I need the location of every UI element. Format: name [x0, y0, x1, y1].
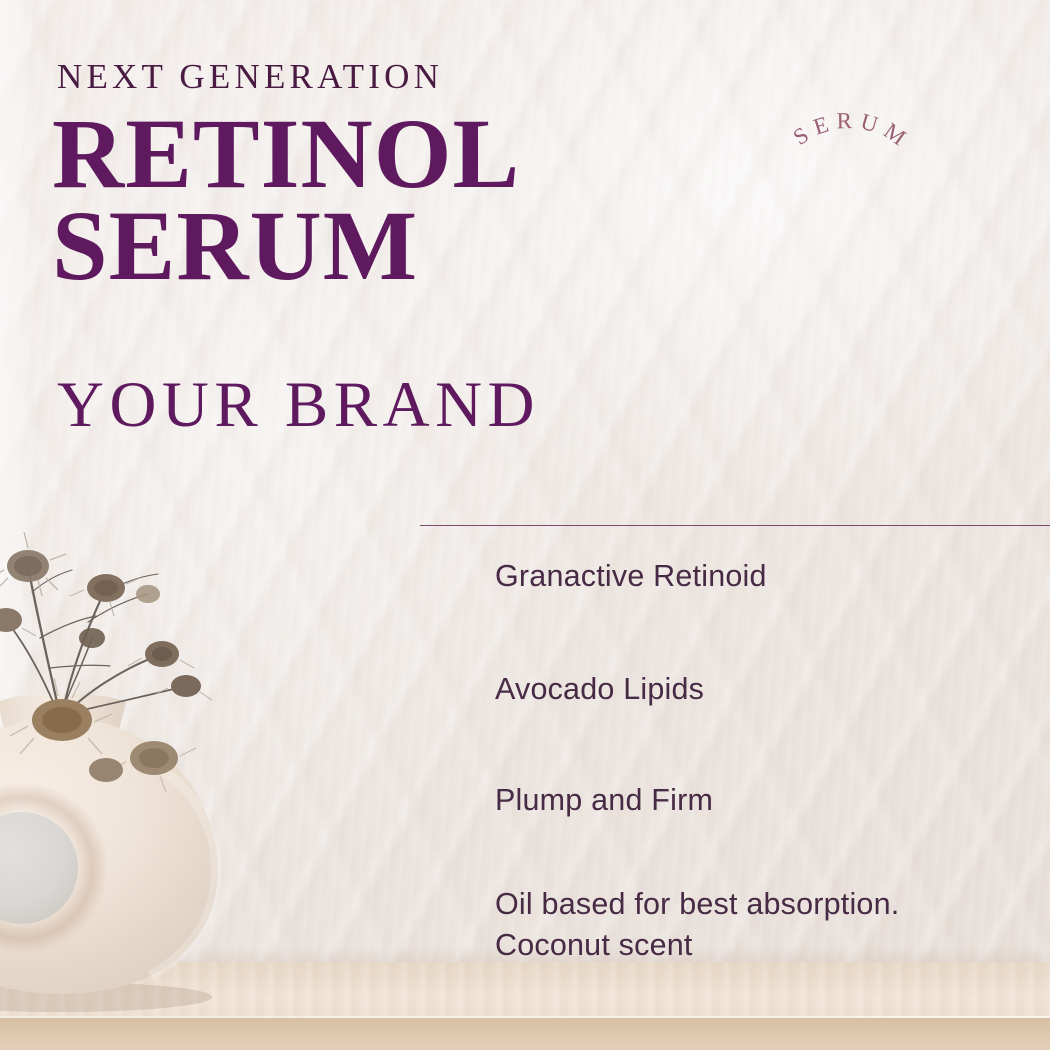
feature-item-2: Avocado Lipids	[495, 669, 1040, 710]
feature-item-4-line-1: Oil based for best absorption.	[495, 884, 1040, 925]
vase-with-dried-flowers	[0, 470, 310, 1030]
product-poster: NEXT GENERATION RETINOL SERUM YOUR BRAND…	[0, 0, 1050, 1050]
serum-circular-badge: SERUM	[782, 112, 957, 287]
feature-item-4-line-2: Coconut scent	[495, 925, 1040, 966]
product-title-line-2: SERUM	[52, 196, 418, 296]
feature-item-3: Plump and Firm	[495, 780, 1040, 821]
section-divider	[420, 525, 1050, 526]
badge-label: SERUM	[789, 112, 916, 154]
brand-name: YOUR BRAND	[57, 368, 540, 443]
product-title-line-1: RETINOL	[52, 104, 520, 204]
kicker-text: NEXT GENERATION	[57, 57, 443, 97]
feature-item-1: Granactive Retinoid	[495, 556, 1040, 597]
feature-list: Granactive Retinoid Avocado Lipids Plump…	[495, 556, 1040, 966]
